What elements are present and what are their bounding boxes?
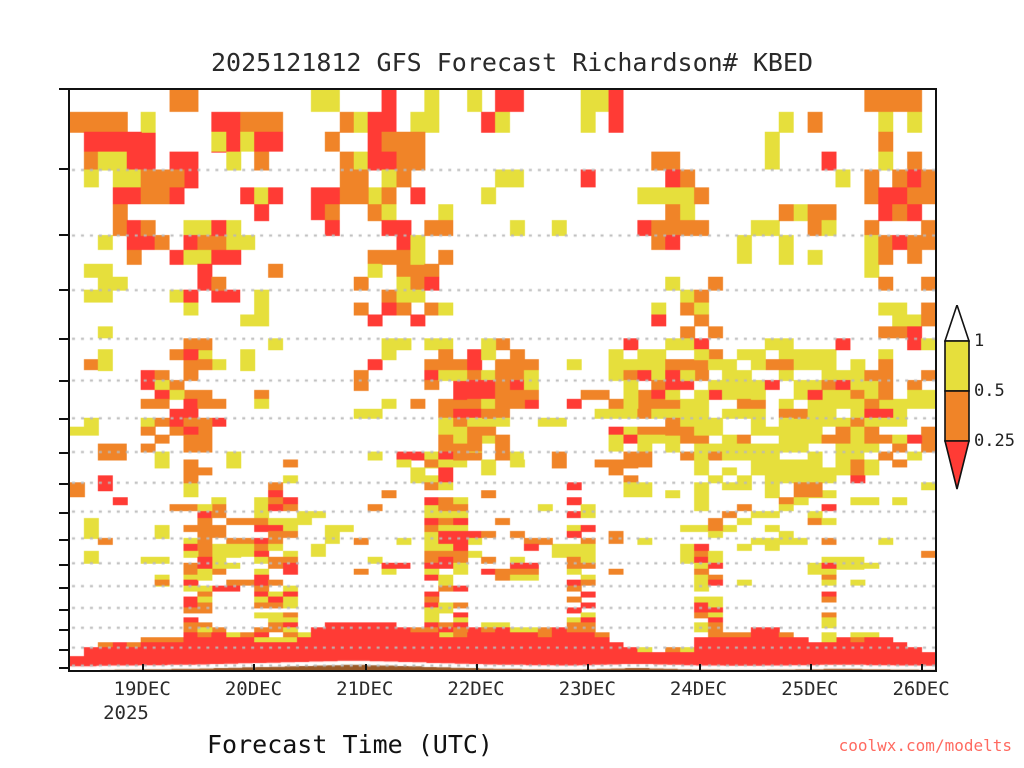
- y-tick-mark: [59, 609, 68, 611]
- x-tick-mark: [810, 664, 812, 672]
- richardson-heatmap: [70, 90, 935, 670]
- y-tick-mark: [59, 539, 68, 541]
- y-tick-mark: [59, 629, 68, 631]
- colorbar: [944, 305, 970, 490]
- colorbar-tick-label: 0.5: [974, 381, 1005, 401]
- chart-title: 2025121812 GFS Forecast Richardson# KBED: [0, 48, 1024, 77]
- x-tick-label: 23DEC: [559, 678, 616, 700]
- plot-area: [68, 88, 937, 672]
- colorbar-tick-label: 1: [974, 331, 984, 351]
- x-tick-label: 21DEC: [336, 678, 393, 700]
- y-tick-mark: [59, 338, 68, 340]
- y-tick-mark: [59, 512, 68, 514]
- y-tick-mark: [59, 667, 68, 669]
- y-tick-mark: [59, 483, 68, 485]
- x-tick-mark: [253, 664, 255, 672]
- y-tick-mark: [59, 289, 68, 291]
- x-tick-label: 24DEC: [670, 678, 727, 700]
- x-tick-label: 22DEC: [447, 678, 504, 700]
- chart-root: 2025121812 GFS Forecast Richardson# KBED…: [0, 0, 1024, 768]
- x-tick-label: 26DEC: [892, 678, 949, 700]
- colorbar-svg: [944, 305, 970, 490]
- y-tick-mark: [59, 452, 68, 454]
- y-tick-mark: [59, 380, 68, 382]
- y-tick-mark: [59, 418, 68, 420]
- y-tick-mark: [59, 587, 68, 589]
- x-tick-mark: [587, 664, 589, 672]
- x-tick-mark: [365, 664, 367, 672]
- colorbar-above-arrow: [945, 305, 969, 341]
- x-axis-year-label: 2025: [103, 702, 149, 724]
- x-tick-mark: [699, 664, 701, 672]
- x-tick-label: 19DEC: [114, 678, 171, 700]
- watermark-credit: coolwx.com/modelts: [839, 736, 1012, 755]
- colorbar-band-orange: [945, 391, 969, 441]
- y-tick-mark: [59, 234, 68, 236]
- y-tick-mark: [59, 88, 68, 90]
- x-tick-label: 20DEC: [225, 678, 282, 700]
- y-tick-mark: [59, 649, 68, 651]
- x-tick-mark: [142, 664, 144, 672]
- colorbar-tick-label: 0.25: [974, 431, 1015, 451]
- x-tick-mark: [921, 664, 923, 672]
- x-axis-title: Forecast Time (UTC): [0, 730, 700, 759]
- x-tick-mark: [476, 664, 478, 672]
- y-tick-mark: [59, 168, 68, 170]
- x-tick-label: 25DEC: [781, 678, 838, 700]
- colorbar-below-arrow: [945, 441, 969, 489]
- y-tick-mark: [59, 564, 68, 566]
- colorbar-band-yellow: [945, 341, 969, 391]
